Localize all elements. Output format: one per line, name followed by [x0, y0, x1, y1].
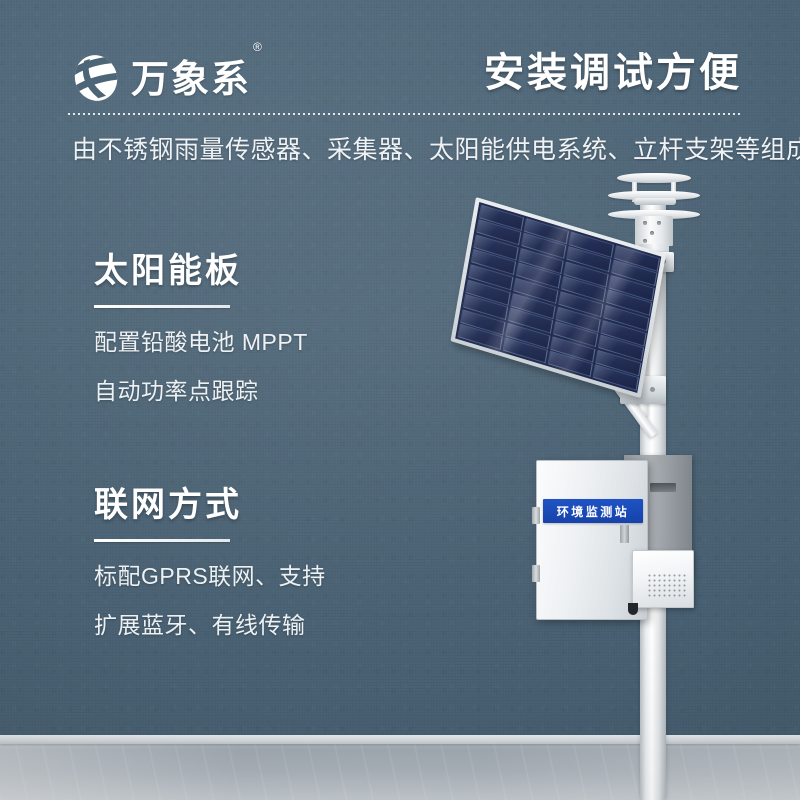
sensor-port-4 — [643, 239, 647, 243]
brand-name: 万象系® — [131, 61, 262, 99]
sensor-port-2 — [657, 221, 661, 225]
poster-header: 万象系® 安装调试方便 由不锈钢雨量传感器、采集器、太阳能供电系统、立杆支架等组… — [0, 0, 800, 175]
registered-trademark-icon: ® — [253, 40, 264, 54]
header-dotted-divider — [68, 113, 740, 115]
feature-block-solar-panel: 太阳能板 配置铅酸电池 MPPT 自动功率点跟踪 — [94, 252, 424, 405]
feature-divider — [94, 539, 230, 542]
cabinet-vent-box — [632, 550, 694, 608]
brand-lockup: 万象系® — [70, 52, 262, 104]
cabinet-vent-holes — [647, 573, 687, 599]
cabinet-latch — [620, 525, 629, 543]
cabinet-foot — [628, 603, 638, 615]
sensor-port-3 — [650, 231, 654, 235]
feature-line: 标配GPRS联网、支持 — [94, 563, 424, 591]
vented-junction-box-icon: 环境监测站 — [536, 455, 692, 620]
feature-line: 配置铅酸电池 MPPT — [94, 329, 424, 357]
brand-name-text: 万象系 — [131, 59, 251, 101]
feature-divider — [94, 305, 230, 308]
wall-baseboard — [0, 735, 800, 744]
feature-title: 太阳能板 — [94, 252, 424, 291]
cabinet-hinge-upper — [532, 507, 540, 524]
sensor-body — [635, 216, 673, 246]
ultrasonic-weather-sensor-icon — [608, 170, 700, 250]
swirl-globe-logo-icon — [70, 52, 122, 104]
product-poster: 环境监测站 — [0, 0, 800, 800]
sensor-port-1 — [643, 221, 647, 225]
feature-line: 扩展蓝牙、有线传输 — [94, 612, 424, 640]
feature-block-network: 联网方式 标配GPRS联网、支持 扩展蓝牙、有线传输 — [94, 486, 424, 639]
cabinet-rear-slot — [650, 483, 676, 492]
page-title: 安装调试方便 — [484, 48, 742, 98]
cabinet-hinge-lower — [532, 565, 540, 582]
clamp-bolt-4 — [650, 387, 655, 392]
feature-title: 联网方式 — [94, 486, 424, 525]
cabinet-label: 环境监测站 — [543, 499, 643, 523]
sensor-transducer-bar — [634, 198, 676, 205]
solar-panel-assembly — [470, 246, 700, 446]
feature-line: 自动功率点跟踪 — [94, 378, 424, 406]
floor-surface — [0, 737, 800, 800]
page-subtitle: 由不锈钢雨量传感器、采集器、太阳能供电系统、立杆支架等组成 — [72, 130, 772, 166]
